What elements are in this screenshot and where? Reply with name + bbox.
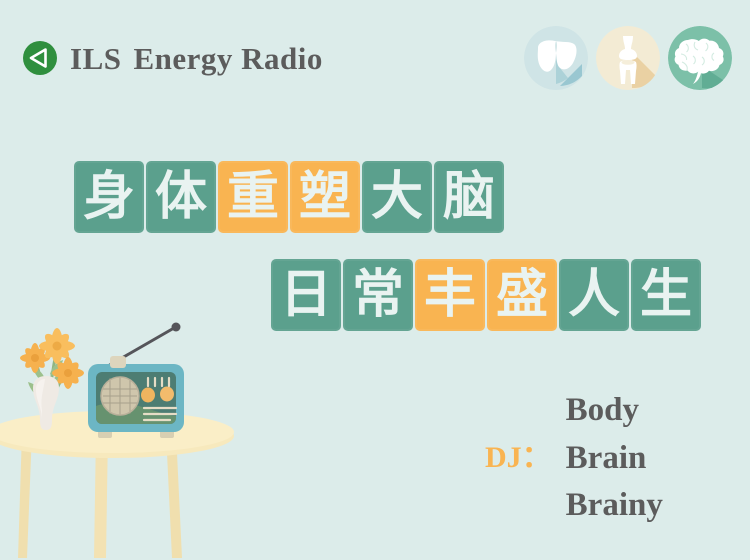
dj-name: Brain <box>566 436 663 482</box>
headline-char: 常 <box>343 259 413 331</box>
headline-char: 生 <box>631 259 701 331</box>
headline-line-2: 日 常 丰 盛 人 生 <box>271 259 701 331</box>
radio <box>88 356 184 432</box>
headline-char: 重 <box>218 161 288 233</box>
brand-logo-group[interactable]: ILSEnergy Radio <box>20 38 323 78</box>
poster-canvas: ILSEnergy Radio <box>0 0 750 560</box>
brain-icon[interactable] <box>668 26 732 90</box>
radio-knob <box>160 387 174 402</box>
headline-char: 盛 <box>487 259 557 331</box>
brand-name-primary: ILS <box>70 41 121 76</box>
knee-joint-icon[interactable] <box>596 26 660 90</box>
headline-char: 日 <box>271 259 341 331</box>
vintage-radio-illustration <box>0 280 250 560</box>
dj-name: Brainy <box>566 483 663 529</box>
dj-name: Body <box>566 388 663 434</box>
headline-line-1: 身 体 重 塑 大 脑 <box>74 161 504 233</box>
dj-credits: DJ： Body Brain Brainy <box>485 388 663 529</box>
topic-icon-group <box>524 26 732 90</box>
headline-char: 脑 <box>434 161 504 233</box>
play-triangle-circle-icon <box>20 38 60 78</box>
radio-knob <box>141 388 155 403</box>
radio-handle <box>110 356 126 368</box>
headline-char: 大 <box>362 161 432 233</box>
dj-label: DJ： <box>485 443 552 473</box>
headline-char: 体 <box>146 161 216 233</box>
headline-char: 塑 <box>290 161 360 233</box>
headline-char: 丰 <box>415 259 485 331</box>
dj-name-list: Body Brain Brainy <box>566 388 663 529</box>
liver-icon[interactable] <box>524 26 588 90</box>
headline-char: 人 <box>559 259 629 331</box>
brand-name: ILSEnergy Radio <box>70 43 323 74</box>
brand-name-secondary: Energy Radio <box>133 41 322 76</box>
headline-char: 身 <box>74 161 144 233</box>
